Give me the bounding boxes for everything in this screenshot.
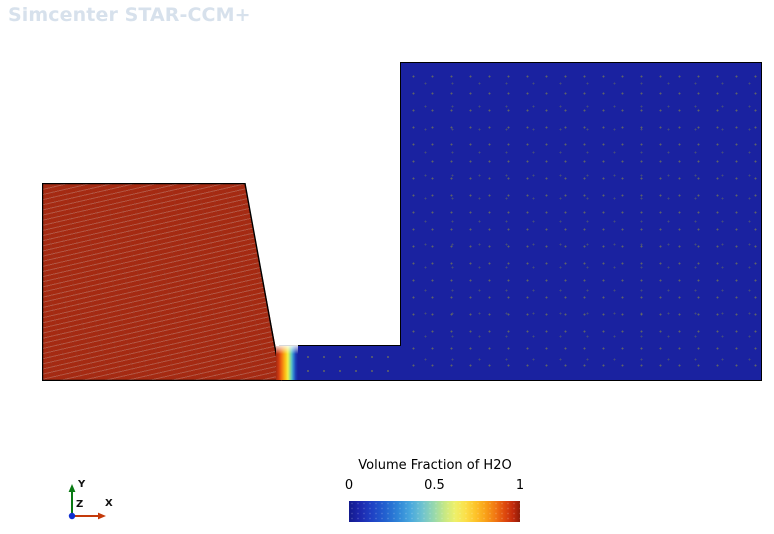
axis-label-x: X — [105, 498, 113, 509]
colorbar-tick-min: 0 — [345, 478, 353, 493]
colorbar-legend[interactable]: Volume Fraction of H2O 0 0.5 1 — [330, 458, 540, 526]
mesh-overlay-water-column — [42, 183, 282, 381]
mesh-overlay-air-strip — [280, 346, 401, 380]
mesh-overlay-air-block — [401, 63, 761, 380]
colorbar-tick-mid: 0.5 — [424, 478, 445, 493]
colorbar-dither-overlay — [349, 501, 520, 522]
colorbar-gradient-bar[interactable] — [349, 501, 520, 522]
star-ccm-scene-window: Simcenter STAR-CCM+ — [0, 0, 774, 534]
air-region-block — [400, 62, 762, 381]
water-column-region — [42, 183, 282, 381]
axis-triad-icon — [60, 478, 130, 528]
scene-viewport[interactable] — [0, 0, 774, 440]
axis-label-y: Y — [78, 479, 85, 490]
axis-label-z: Z — [76, 499, 83, 510]
colorbar-tick-max: 1 — [516, 478, 524, 493]
volume-fraction-interface-band — [276, 346, 298, 380]
orientation-axes-widget[interactable]: Y Z X — [60, 478, 130, 528]
colorbar-tick-labels: 0 0.5 1 — [330, 478, 540, 496]
colorbar-title: Volume Fraction of H2O — [330, 458, 540, 473]
